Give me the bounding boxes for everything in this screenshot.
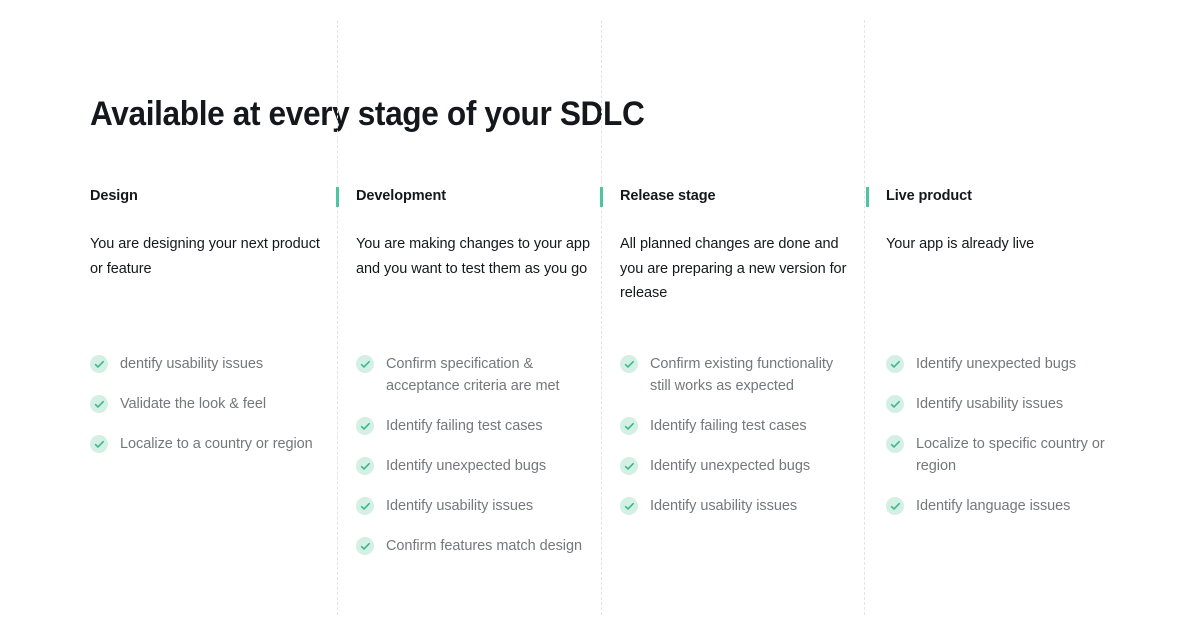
check-circle-icon [356, 417, 374, 435]
list-item-label: Identify failing test cases [650, 415, 807, 437]
list-item-label: Confirm features match design [386, 535, 582, 557]
list-item: Validate the look & feel [90, 393, 326, 415]
check-circle-icon [356, 355, 374, 373]
stage-checklist: Identify unexpected bugs Identify usabil… [886, 353, 1122, 535]
stage-heading-label: Development [356, 188, 446, 204]
list-item-label: Identify language issues [916, 495, 1070, 517]
list-item-label: Identify usability issues [386, 495, 533, 517]
stage-column-live-product: Live product Your app is already live Id… [886, 186, 1122, 257]
page-root: Available at every stage of your SDLC De… [0, 0, 1200, 630]
stage-heading-label: Design [90, 188, 138, 204]
check-circle-icon [90, 355, 108, 373]
check-circle-icon [886, 497, 904, 515]
stage-heading: Design [90, 186, 326, 206]
check-circle-icon [620, 355, 638, 373]
accent-bar [866, 187, 869, 207]
list-item: Identify failing test cases [356, 415, 592, 437]
stage-heading: Development [356, 186, 592, 206]
list-item-label: Identify usability issues [650, 495, 797, 517]
stage-columns: Design You are designing your next produ… [0, 0, 1200, 630]
stage-heading: Live product [886, 186, 1122, 206]
check-circle-icon [620, 457, 638, 475]
list-item: Identify usability issues [620, 495, 856, 517]
list-item-label: Identify failing test cases [386, 415, 543, 437]
list-item: Confirm specification & acceptance crite… [356, 353, 592, 397]
stage-checklist: dentify usability issues Validate the lo… [90, 353, 326, 473]
check-circle-icon [620, 497, 638, 515]
check-circle-icon [90, 435, 108, 453]
stage-heading-label: Release stage [620, 188, 715, 204]
list-item-label: Confirm existing functionality still wor… [650, 353, 856, 397]
list-item: dentify usability issues [90, 353, 326, 375]
list-item: Identify unexpected bugs [620, 455, 856, 477]
list-item-label: Identify unexpected bugs [386, 455, 546, 477]
check-circle-icon [90, 395, 108, 413]
accent-bar [600, 187, 603, 207]
stage-description: You are making changes to your app and y… [356, 232, 592, 281]
stage-description: You are designing your next product or f… [90, 232, 326, 281]
stage-column-design: Design You are designing your next produ… [90, 186, 326, 281]
accent-bar [336, 187, 339, 207]
check-circle-icon [620, 417, 638, 435]
list-item-label: Localize to a country or region [120, 433, 313, 455]
check-circle-icon [886, 395, 904, 413]
list-item: Localize to specific country or region [886, 433, 1122, 477]
list-item: Confirm features match design [356, 535, 592, 557]
list-item: Identify failing test cases [620, 415, 856, 437]
list-item: Localize to a country or region [90, 433, 326, 455]
stage-description: All planned changes are done and you are… [620, 232, 856, 306]
list-item-label: dentify usability issues [120, 353, 263, 375]
list-item-label: Identify unexpected bugs [916, 353, 1076, 375]
stage-heading: Release stage [620, 186, 856, 206]
stage-column-release: Release stage All planned changes are do… [620, 186, 856, 306]
check-circle-icon [886, 435, 904, 453]
list-item-label: Identify unexpected bugs [650, 455, 810, 477]
list-item: Identify unexpected bugs [886, 353, 1122, 375]
list-item: Identify usability issues [356, 495, 592, 517]
check-circle-icon [356, 457, 374, 475]
stage-checklist: Confirm specification & acceptance crite… [356, 353, 592, 575]
list-item: Identify language issues [886, 495, 1122, 517]
list-item-label: Validate the look & feel [120, 393, 266, 415]
list-item: Identify unexpected bugs [356, 455, 592, 477]
stage-checklist: Confirm existing functionality still wor… [620, 353, 856, 535]
list-item-label: Confirm specification & acceptance crite… [386, 353, 592, 397]
stage-column-development: Development You are making changes to yo… [356, 186, 592, 281]
stage-description: Your app is already live [886, 232, 1122, 257]
check-circle-icon [356, 497, 374, 515]
list-item: Confirm existing functionality still wor… [620, 353, 856, 397]
check-circle-icon [356, 537, 374, 555]
list-item-label: Localize to specific country or region [916, 433, 1122, 477]
list-item-label: Identify usability issues [916, 393, 1063, 415]
check-circle-icon [886, 355, 904, 373]
list-item: Identify usability issues [886, 393, 1122, 415]
stage-heading-label: Live product [886, 188, 972, 204]
